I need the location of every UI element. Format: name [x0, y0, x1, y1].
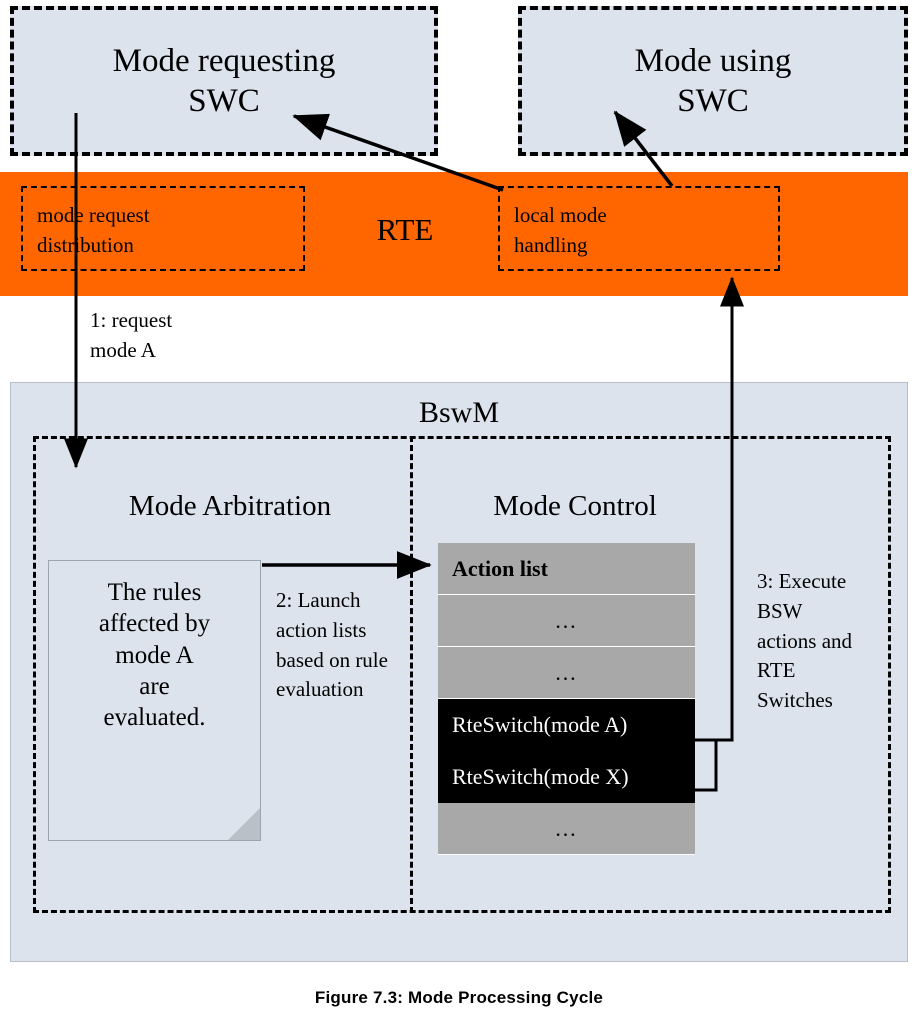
note-line1: The rules	[49, 577, 260, 608]
action-list-table: Action list … … RteSwitch(mode A) RteSwi…	[438, 543, 695, 855]
note-line5: evaluated.	[49, 702, 260, 733]
local-mode-handling-line1: local mode	[514, 200, 778, 230]
step-3-line5: Switches	[757, 686, 907, 716]
figure-caption: Figure 7.3: Mode Processing Cycle	[0, 988, 918, 1008]
bswm-title: BswM	[0, 396, 918, 430]
note-line4: are	[49, 671, 260, 702]
local-mode-handling-box: local mode handling	[498, 186, 780, 271]
action-list-header-label: Action list	[452, 556, 548, 582]
step-1-line2: mode A	[90, 336, 270, 366]
action-list-row: …	[438, 647, 695, 699]
action-list-row-label: RteSwitch(mode A)	[452, 712, 627, 738]
step-1-label: 1: request mode A	[90, 306, 270, 366]
mode-requesting-swc-line2: SWC	[113, 81, 336, 121]
action-list-row-label: …	[555, 816, 579, 842]
mode-using-swc-line2: SWC	[635, 81, 792, 121]
step-3-line1: 3: Execute	[757, 567, 907, 597]
mode-using-swc-box: Mode using SWC	[518, 6, 908, 156]
note-line3: mode A	[49, 640, 260, 671]
action-list-row-rteswitch-mode-x: RteSwitch(mode X)	[438, 751, 695, 803]
mode-requesting-swc-label: Mode requesting SWC	[113, 41, 336, 122]
note-line2: affected by	[49, 608, 260, 639]
mode-control-title: Mode Control	[430, 490, 720, 523]
step-1-line1: 1: request	[90, 306, 270, 336]
rte-label: RTE	[330, 212, 480, 248]
note-folded-corner	[228, 808, 260, 840]
step-2-line4: evaluation	[276, 675, 416, 705]
mode-using-swc-line1: Mode using	[635, 41, 792, 81]
figure-canvas: Mode requesting SWC Mode using SWC mode …	[0, 0, 918, 1030]
action-list-row-rteswitch-mode-a: RteSwitch(mode A)	[438, 699, 695, 751]
action-list-row-label: …	[555, 608, 579, 634]
mode-request-distribution-line2: distribution	[37, 230, 303, 260]
note-fold-triangle	[228, 808, 260, 840]
mode-request-distribution-line1: mode request	[37, 200, 303, 230]
step-3-label: 3: Execute BSW actions and RTE Switches	[757, 567, 907, 716]
mode-arbitration-title: Mode Arbitration	[60, 490, 400, 523]
action-list-row: …	[438, 803, 695, 855]
mode-requesting-swc-box: Mode requesting SWC	[10, 6, 438, 156]
action-list-row: …	[438, 595, 695, 647]
mode-requesting-swc-line1: Mode requesting	[113, 41, 336, 81]
step-2-line3: based on rule	[276, 646, 416, 676]
mode-using-swc-label: Mode using SWC	[635, 41, 792, 122]
step-2-label: 2: Launch action lists based on rule eva…	[276, 586, 416, 705]
local-mode-handling-line2: handling	[514, 230, 778, 260]
step-2-line2: action lists	[276, 616, 416, 646]
step-3-line4: RTE	[757, 656, 907, 686]
action-list-row-label: RteSwitch(mode X)	[452, 764, 629, 790]
rules-note: The rules affected by mode A are evaluat…	[48, 560, 261, 841]
step-3-line3: actions and	[757, 627, 907, 657]
step-3-line2: BSW	[757, 597, 907, 627]
action-list-header-row: Action list	[438, 543, 695, 595]
action-list-row-label: …	[555, 660, 579, 686]
mode-request-distribution-box: mode request distribution	[21, 186, 305, 271]
step-2-line1: 2: Launch	[276, 586, 416, 616]
